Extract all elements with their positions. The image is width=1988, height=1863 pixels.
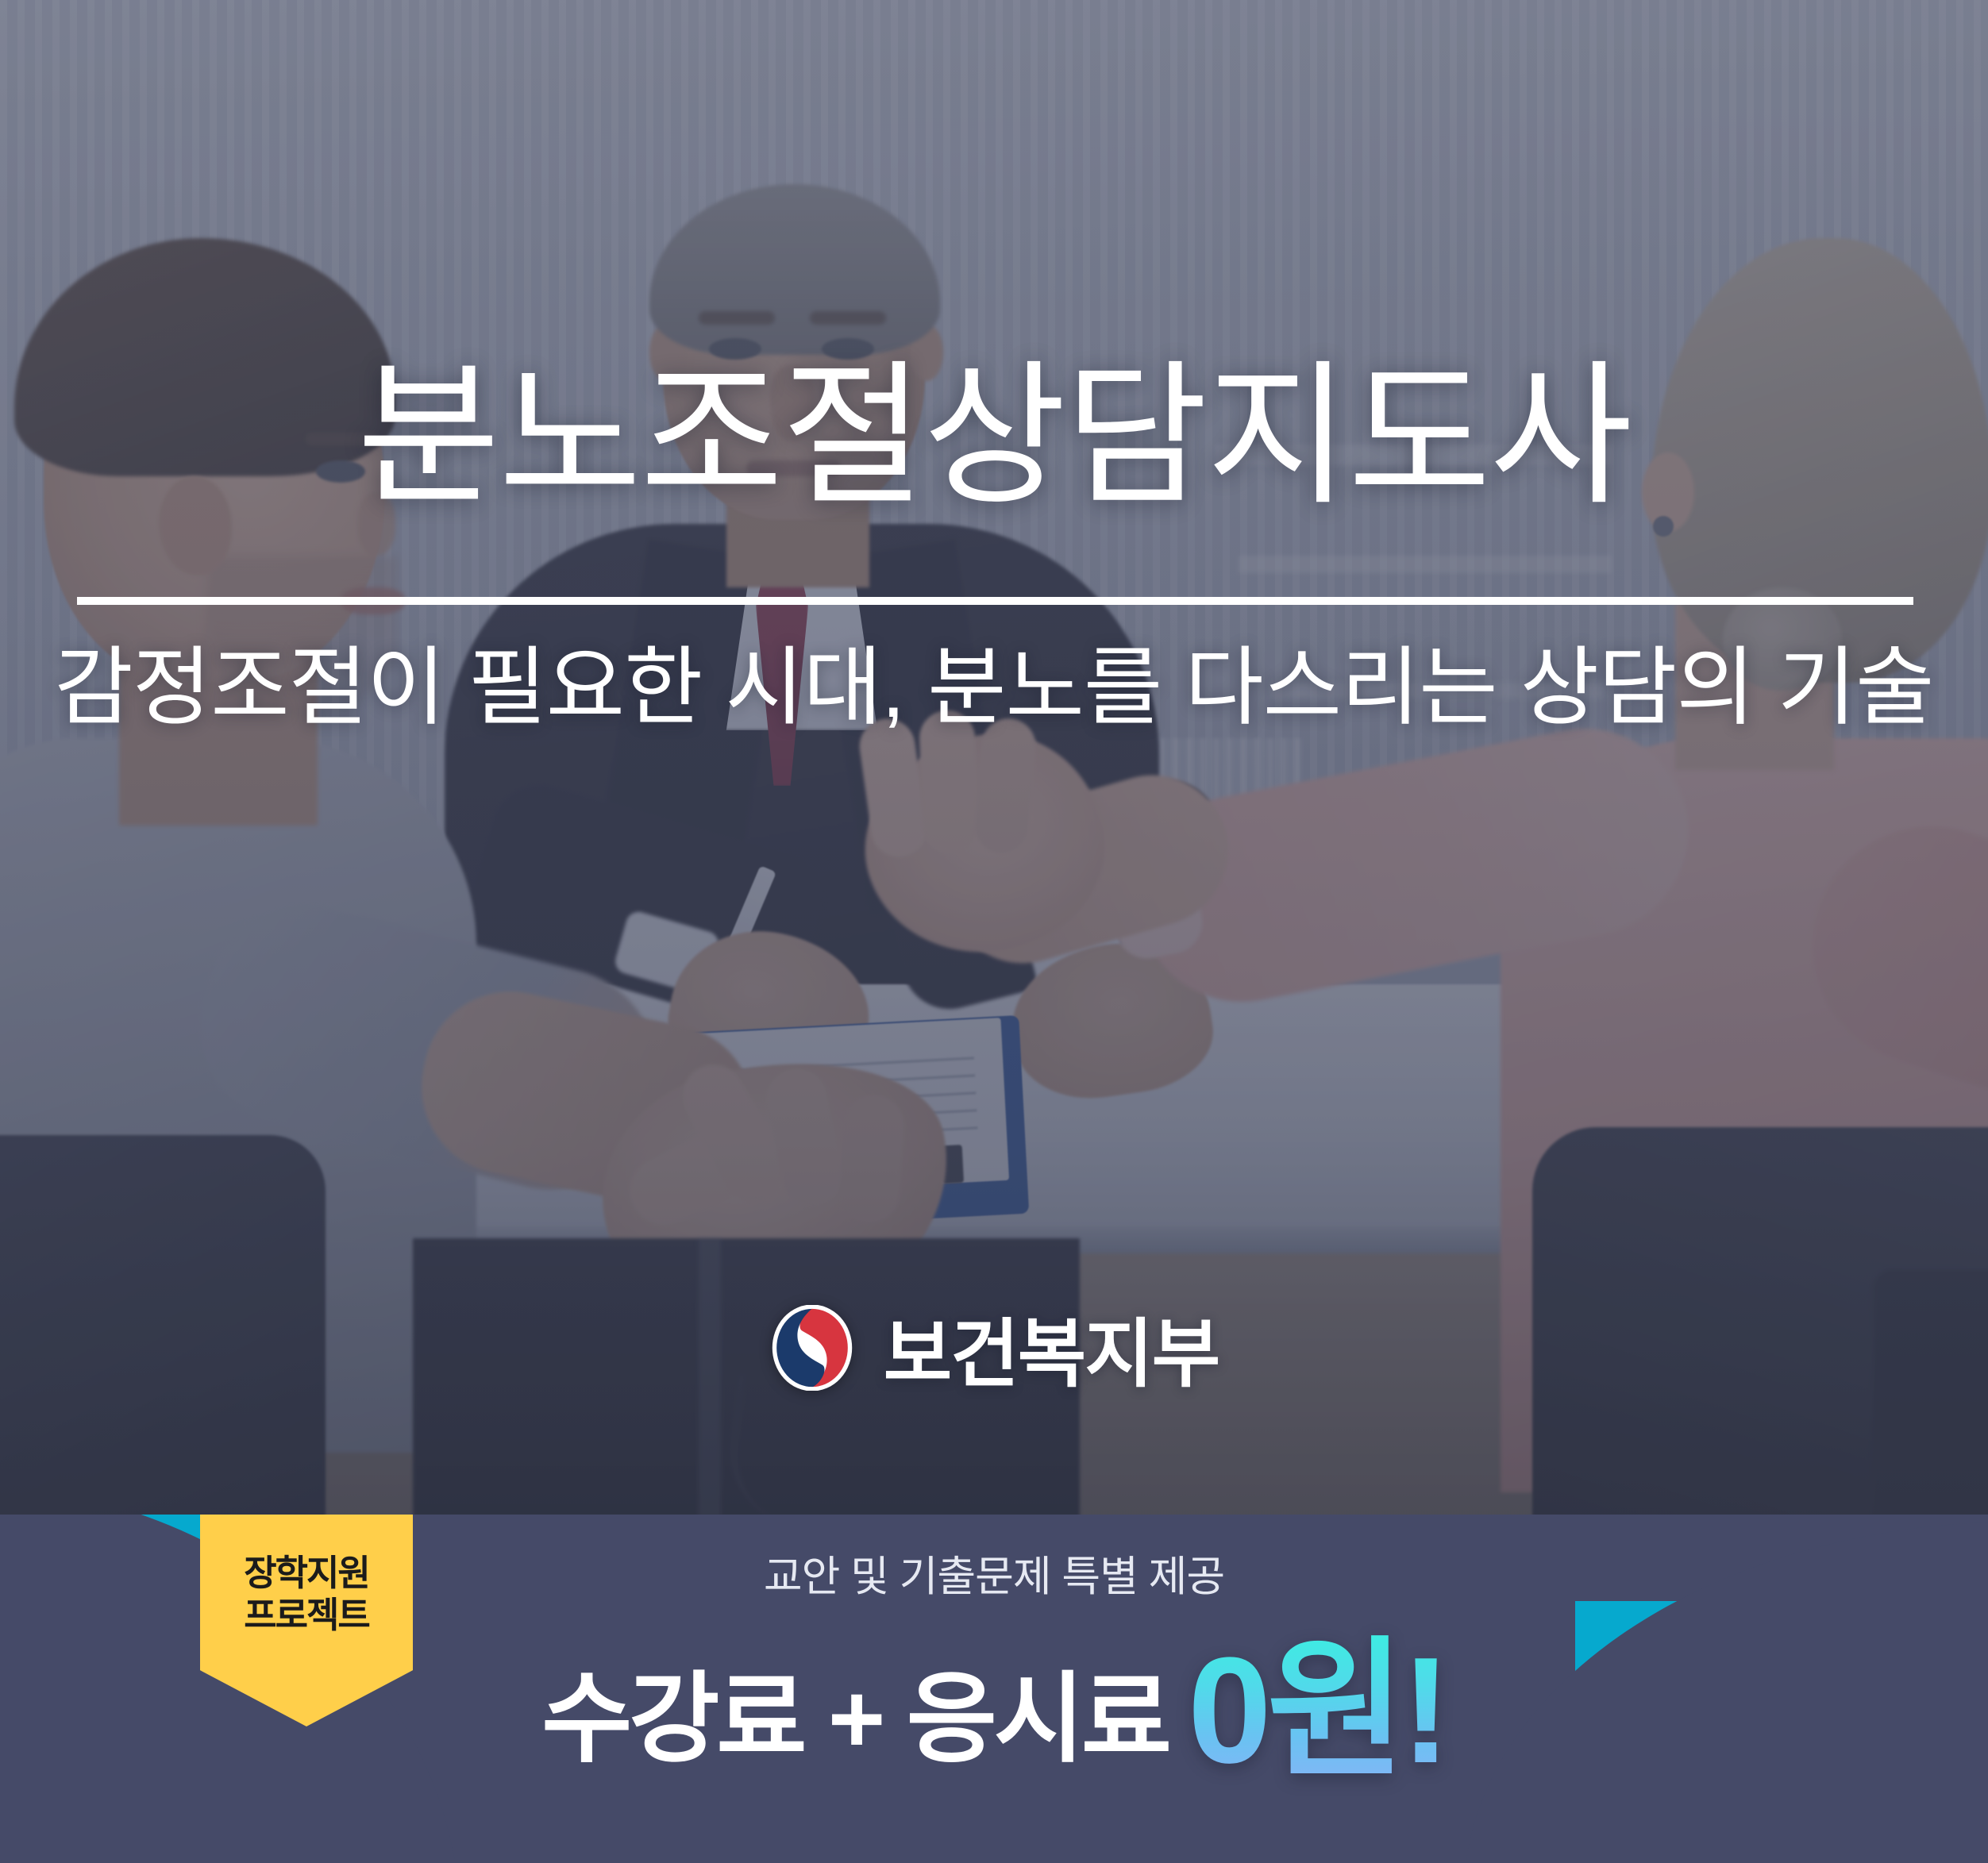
page-subtitle: 감정조절이 필요한 시대, 분노를 다스리는 상담의 기술 xyxy=(0,635,1988,740)
hero-text-block: 분노조절상담지도사 감정조절이 필요한 시대, 분노를 다스리는 상담의 기술 … xyxy=(0,0,1988,1524)
scholarship-badge-line2: 프로젝트 xyxy=(244,1594,369,1636)
fee-label: 수강료 + 응시료 xyxy=(541,1670,1169,1769)
ministry-logo: 보건복지부 xyxy=(0,1294,1988,1402)
scholarship-badge-line1: 장학지원 xyxy=(244,1552,369,1594)
page-title: 분노조절상담지도사 xyxy=(0,359,1988,514)
promo-footer: 장학지원 프로젝트 교안 및 기출문제 특별 제공 수강료 + 응시료 0원! xyxy=(0,1515,1988,1863)
title-divider xyxy=(77,597,1913,605)
price-value: 0원! xyxy=(1188,1635,1447,1786)
ministry-name-label: 보건복지부 xyxy=(884,1294,1219,1402)
promo-banner: 분노조절상담지도사 감정조절이 필요한 시대, 분노를 다스리는 상담의 기술 … xyxy=(0,0,1988,1863)
taegeuk-emblem-icon xyxy=(769,1305,855,1391)
